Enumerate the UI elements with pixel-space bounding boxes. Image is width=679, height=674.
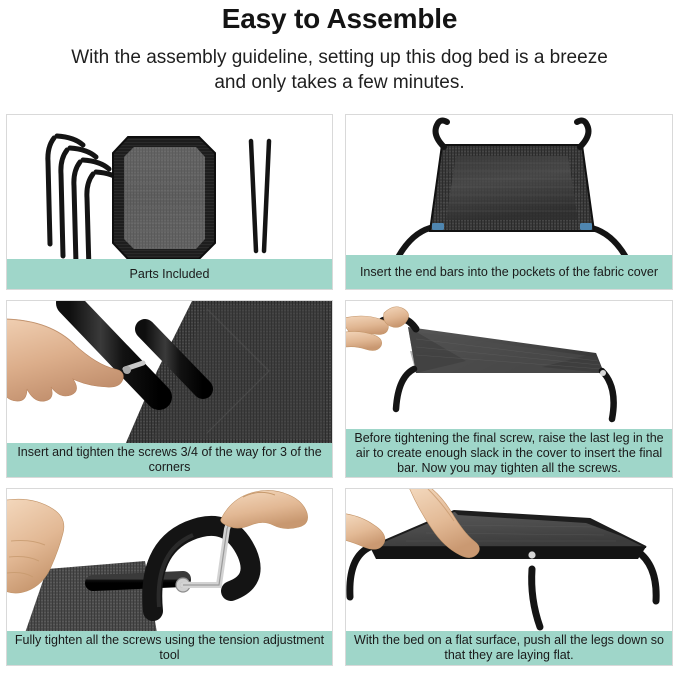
tighten-screws-photo (7, 489, 332, 633)
raise-last-leg-photo (346, 301, 672, 431)
frame-rail-front (370, 547, 646, 559)
page-subtitle: With the assembly guideline, setting up … (0, 45, 679, 95)
insert-end-bars-photo (346, 115, 672, 259)
push-legs-down-illustration (346, 489, 672, 633)
step-caption-1: Parts Included (7, 259, 332, 289)
page-title: Easy to Assemble (0, 2, 679, 36)
frame-tube-horizontal (93, 579, 183, 583)
parts-included-illustration (7, 115, 332, 261)
screw-head-front (528, 551, 535, 558)
assembly-steps-grid: Parts Included (6, 114, 673, 668)
insert-screws-photo (7, 301, 332, 445)
step-caption-4: Before tightening the final screw, raise… (346, 429, 672, 477)
push-legs-down-photo (346, 489, 672, 633)
tighten-screws-illustration (7, 489, 332, 633)
fabric-cover-shape (113, 137, 215, 259)
parts-included-photo (7, 115, 332, 261)
step-caption-5: Fully tighten all the screws using the t… (7, 631, 332, 665)
raise-last-leg-illustration (346, 301, 672, 431)
tension-tab-left (432, 223, 444, 230)
step-caption-3: Insert and tighten the screws 3/4 of the… (7, 443, 332, 477)
step-caption-2: Insert the end bars into the pockets of … (346, 255, 672, 289)
tension-tab-right (580, 223, 592, 230)
header: Easy to Assemble With the assembly guide… (0, 0, 679, 95)
step-panel-4: Before tightening the final screw, raise… (345, 300, 673, 478)
step-panel-6: With the bed on a flat surface, push all… (345, 488, 673, 666)
step-panel-1: Parts Included (6, 114, 333, 290)
insert-end-bars-illustration (346, 115, 672, 259)
insert-screws-illustration (7, 301, 332, 445)
step-panel-3: Insert and tighten the screws 3/4 of the… (6, 300, 333, 478)
step-caption-6: With the bed on a flat surface, push all… (346, 631, 672, 665)
step-panel-2: Insert the end bars into the pockets of … (345, 114, 673, 290)
step-panel-5: Fully tighten all the screws using the t… (6, 488, 333, 666)
screw-head-right (600, 370, 606, 376)
